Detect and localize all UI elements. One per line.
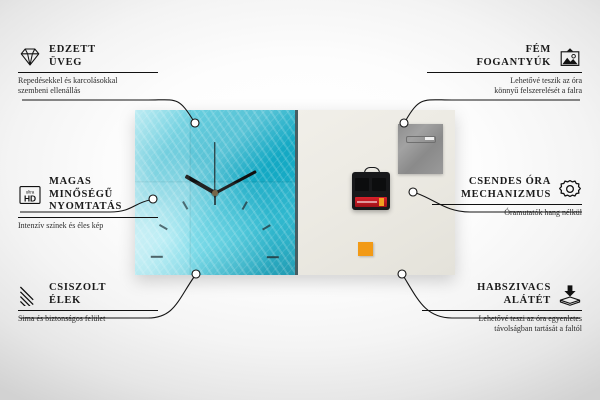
callout-silent-mechanism[interactable]: CSENDES ÓRA MECHANIZMUS Óramutatók hang … xyxy=(432,176,582,218)
foam-pad-arrow-icon xyxy=(558,284,582,306)
divider xyxy=(427,72,582,73)
callout-description: Repedésekkel és karcolásokkal szembeni e… xyxy=(18,76,158,96)
callout-tempered-glass[interactable]: EDZETT ÜVEG Repedésekkel és karcolásokka… xyxy=(18,44,158,96)
clock-tick-marks xyxy=(135,110,295,275)
divider xyxy=(432,204,582,205)
callout-title: CSISZOLT ÉLEK xyxy=(49,282,106,307)
foam-pad-part xyxy=(358,242,373,256)
divider xyxy=(18,72,158,73)
callout-title: CSENDES ÓRA MECHANIZMUS xyxy=(461,176,551,201)
divider xyxy=(422,310,582,311)
callout-title: FÉM FOGANTYÚK xyxy=(476,44,551,69)
divider xyxy=(18,310,158,311)
callout-title: EDZETT ÜVEG xyxy=(49,44,96,69)
product-photo xyxy=(135,110,455,275)
picture-hanger-icon xyxy=(558,46,582,68)
svg-text:HD: HD xyxy=(24,193,36,203)
callout-description: Óramutatók hang nélkül xyxy=(432,208,582,218)
metal-hanger-part xyxy=(398,124,443,174)
polished-edges-icon xyxy=(18,284,42,306)
divider xyxy=(18,217,158,218)
callout-description: Lehetővé teszi az óra egyenletes távolsá… xyxy=(422,314,582,334)
clock-mechanism-part xyxy=(352,172,390,210)
clock-front-face xyxy=(135,110,295,275)
ultra-hd-badge-icon: ultra HD xyxy=(18,184,42,206)
callout-hd-print[interactable]: ultra HD MAGAS MINŐSÉGŰ NYOMTATÁS Intenz… xyxy=(18,176,158,231)
diamond-icon xyxy=(18,46,42,68)
clock-second-hand xyxy=(214,141,215,197)
panel-edge xyxy=(295,110,298,275)
callout-title: HABSZIVACS ALÁTÉT xyxy=(477,282,551,307)
callout-title: MAGAS MINŐSÉGŰ NYOMTATÁS xyxy=(49,176,158,214)
callout-foam-pad[interactable]: HABSZIVACS ALÁTÉT Lehetővé teszi az óra … xyxy=(422,282,582,334)
infographic-canvas: EDZETT ÜVEG Repedésekkel és karcolásokka… xyxy=(0,0,600,400)
callout-description: Sima és biztonságos felület xyxy=(18,314,158,324)
callout-description: Intenzív színek és éles kép xyxy=(18,221,158,231)
clock-hour-hand xyxy=(185,174,216,194)
clock-back-panel xyxy=(295,110,455,275)
callout-metal-handles[interactable]: FÉM FOGANTYÚK Lehetővé teszik az óra kön… xyxy=(427,44,582,96)
callout-polished-edges[interactable]: CSISZOLT ÉLEK Sima és biztonságos felüle… xyxy=(18,282,158,324)
clock-minute-hand xyxy=(214,170,256,194)
callout-description: Lehetővé teszik az óra könnyű felszerelé… xyxy=(427,76,582,96)
gear-icon xyxy=(558,178,582,200)
clock-center-cap xyxy=(212,190,218,196)
battery xyxy=(355,197,387,207)
